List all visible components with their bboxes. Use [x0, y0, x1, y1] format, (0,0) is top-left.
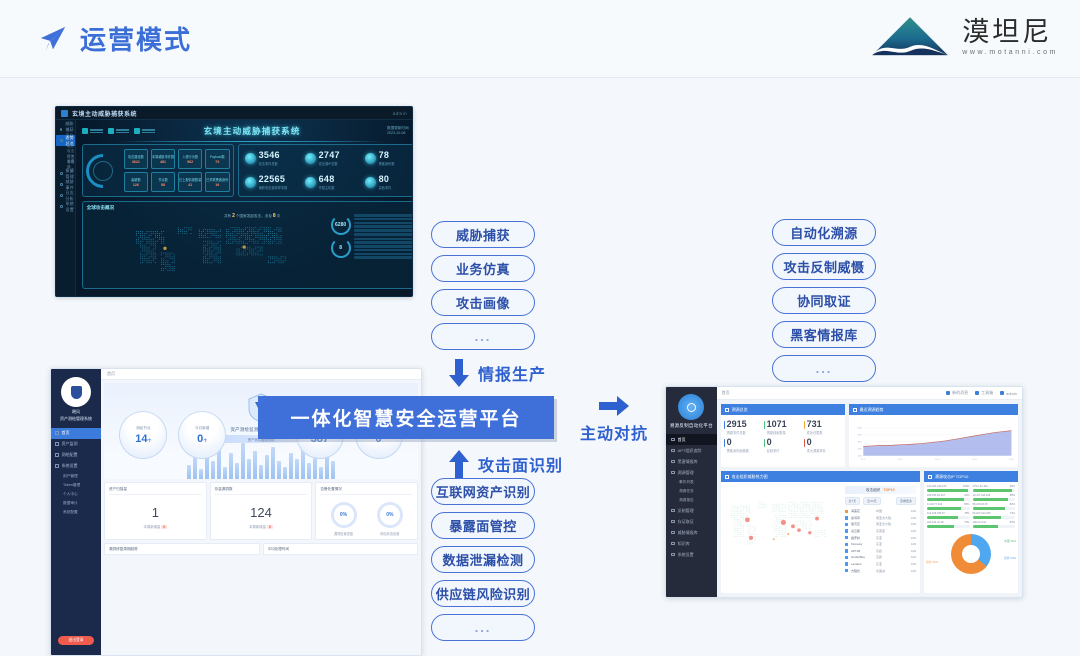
donut-label-a: 中国 36%: [1004, 539, 1016, 543]
flow-attack-surface: 攻击面识别: [449, 450, 563, 478]
right-menu-item-6[interactable]: 溯源报告: [666, 496, 717, 505]
topbar-action-0[interactable]: 新的消息: [946, 390, 968, 396]
ip-bar-track: [927, 507, 970, 510]
capability-pill-0[interactable]: 威胁捕获: [431, 221, 535, 248]
white-card-badge: 0: [267, 525, 273, 529]
white-card-badge: 0: [161, 525, 167, 529]
top10-value: 100: [906, 569, 916, 573]
stat-orb-icon: [305, 153, 316, 164]
trace-stat-value: 0: [727, 438, 762, 447]
building-bar: [223, 467, 227, 479]
stat-orb-icon: [365, 177, 376, 188]
capability-pill-3[interactable]: 黑客情报库: [772, 321, 876, 348]
dark-chip-value: 3621: [132, 160, 140, 164]
ip-address: 175.6.42.162: [973, 485, 988, 488]
ip-bar-track: [927, 489, 970, 492]
ip-progress-label: 222.104.41.4870%: [927, 521, 970, 524]
ip-bar-fill: [927, 516, 958, 519]
card-title: 溯源攻击IP TOP10: [935, 474, 968, 480]
flow-intel-production: 情报生产: [449, 359, 546, 387]
ip-progress-4: 14.29.77.24485%: [927, 503, 970, 510]
ip-bar-fill: [973, 507, 1005, 510]
svg-text:2000: 2000: [857, 448, 861, 450]
white-card-row: 资产扫描量1本周新增量 0存量漏洞数124本周新增量 0告警处置情况0%漏洞处置…: [104, 482, 418, 540]
right-menu-item-3[interactable]: 溯源管理: [666, 467, 717, 478]
ip-percent: 78%: [964, 512, 969, 515]
dark-main: 玄境主动威胁捕获系统 数据更新时间 2023-10-08 ⠿ 攻击路径数3621…: [76, 120, 413, 297]
dark-stat-value: 3546: [259, 151, 280, 160]
building-bar: [211, 461, 215, 479]
ip-progress-7: 60.207.194.20574%: [973, 512, 1016, 519]
right-menu-label: 存证取证: [678, 519, 694, 525]
top10-org-region: 东欧: [876, 555, 900, 559]
threat-hunting-dashboard-screenshot[interactable]: 玄境主动威胁捕获系统 admin 威胁捕获平台态势总览APT组织攻击行为画像攻击…: [55, 106, 413, 297]
top10-value: 100: [906, 529, 916, 533]
menu-icon: [671, 438, 675, 442]
capability-pill-2[interactable]: 协同取证: [772, 287, 876, 314]
svg-text:11-5: 11-5: [1009, 459, 1014, 461]
top10-org-name: 魔罗桫: [851, 536, 873, 540]
white-menu-label: 系统配置: [63, 510, 78, 515]
series-swatch: [845, 543, 848, 546]
top10-org-name: 海莲花: [851, 509, 873, 513]
top10-banner: 攻击组织 TOP10: [845, 486, 916, 494]
building-bar: [331, 461, 335, 479]
dark-stat-grid: 3546攻击事件总数2747攻击源IP总数78黑客身份数22565捕获攻击载荷样…: [242, 148, 413, 193]
white-menu-item-3[interactable]: 系统设置: [51, 461, 101, 472]
menu-bullet-icon: [60, 194, 63, 197]
stat-text: 3546攻击事件总数: [259, 151, 280, 166]
capability-pill-1[interactable]: 暴露面管控: [431, 512, 535, 539]
stat-orb-icon: [245, 153, 256, 164]
right-menu-item-5[interactable]: 溯源任务: [666, 487, 717, 496]
header-title-group: 运营模式: [38, 20, 192, 57]
right-sidebar[interactable]: 溯源反制自动化平台 首页APT组织追踪黑客情报库溯源管理事件列表溯源任务溯源报告…: [666, 387, 717, 597]
dark-menu-item-3[interactable]: 攻击者画像: [56, 157, 75, 168]
list-icon: [725, 408, 729, 412]
white-kpi-value: 14个: [135, 434, 151, 445]
capability-pill-3[interactable]: 供应链风险识别: [431, 580, 535, 607]
dark-chip-title: Payload数: [210, 154, 225, 159]
platform-bar[interactable]: 一体化智慧安全运营平台: [258, 396, 554, 439]
dark-stat-value: 648: [319, 175, 335, 184]
menu-icon: [55, 442, 59, 446]
arrow-right-icon: [599, 396, 629, 416]
dark-event-rows-1: [354, 238, 413, 260]
dark-gauge-block-1: 8: [331, 238, 413, 260]
ip-progress-9: 109.13.3.9166%: [973, 521, 1016, 528]
right-menu-item-7[interactable]: 反制管理: [666, 505, 717, 516]
white-metric-card-1: 存量漏洞数124本周新增量 0: [210, 482, 313, 540]
white-menu-item-4[interactable]: 用户管理: [51, 472, 101, 481]
top10-filter-chips[interactable]: 近7天近30天查看更多: [845, 497, 916, 505]
counter-capability-column: 自动化溯源攻击反制威慑协同取证黑客情报库...: [772, 219, 876, 382]
dark-chip-value: 19: [215, 183, 219, 187]
trace-stat-value: 1071: [767, 420, 802, 429]
ip-progress-label: 175.6.42.16295%: [973, 485, 1016, 488]
brand-logo: 漠坦尼 www.motanni.com: [868, 14, 1058, 60]
capability-pill-0[interactable]: 互联网资产识别: [431, 478, 535, 505]
white-kpi-0: 测绘节点14个: [119, 411, 167, 459]
card-header: 溯源攻击IP TOP10: [924, 471, 1018, 482]
menu-bullet-icon: [60, 183, 63, 186]
dark-event-row: [354, 253, 413, 256]
card-header: 溯源总览: [721, 404, 845, 415]
dark-menu-item-7[interactable]: 系统设置: [56, 201, 75, 212]
top10-row: 摩诃草南亚次大陆100: [845, 515, 916, 522]
dark-chip-grid: 攻击路径数3621本周威胁事件数481入侵行为数962Payload数73蜜罐数…: [124, 149, 230, 192]
trace-stat-1: 1071溯源线索数量: [764, 420, 802, 435]
menu-icon: [55, 431, 59, 435]
stat-orb-icon: [365, 153, 376, 164]
dark-stat-caption: 失陷主机数: [319, 185, 335, 190]
menu-icon: [55, 453, 59, 457]
trace-stat-value: 731: [807, 420, 842, 429]
white-kpi-label: 今日新增: [195, 426, 209, 431]
ip-bar-fill: [927, 498, 964, 501]
ip-percent: 74%: [1010, 512, 1015, 515]
building-bar: [187, 465, 191, 479]
white-menu-item-7[interactable]: 数据审计: [51, 499, 101, 508]
building-bar: [199, 469, 203, 479]
top10-org-region: 东亚: [876, 562, 900, 566]
series-swatch: [845, 556, 848, 559]
white-menu[interactable]: 首页资产监测测绘配置系统设置用户管理Token管理个人中心数据审计系统配置: [51, 428, 101, 517]
menu-bullet-icon: [60, 172, 63, 175]
trace-stat-caption: 黑客身份画像数: [727, 448, 762, 453]
ip-bar-track: [973, 507, 1016, 510]
white-donut-1: 0%网站状态处置: [377, 502, 403, 536]
white-disposal-card: 告警处置情况0%漏洞处置进度0%网站状态处置: [315, 482, 418, 540]
capability-pill-4[interactable]: ...: [772, 355, 876, 382]
topbar-action-1[interactable]: 工具箱: [975, 390, 993, 396]
dark-stat-5: 80高危事件: [362, 172, 413, 194]
ip-progress-grid: 103.204.199.215100%175.6.42.16295%180.23…: [924, 482, 1018, 531]
building-bar: [247, 459, 251, 479]
dark-chip-0: 攻击路径数3621: [124, 149, 149, 169]
right-menu-item-4[interactable]: 事件列表: [666, 478, 717, 487]
white-menu-item-8[interactable]: 系统配置: [51, 508, 101, 517]
dark-stat-0: 3546攻击事件总数: [242, 148, 299, 170]
radial-gauge: [79, 146, 127, 194]
building-bar: [295, 459, 299, 479]
white-bottom-card-1: 平均处理时间: [263, 543, 419, 555]
top10-org-region: 北美洲: [876, 569, 900, 573]
donut-graphic: [951, 534, 991, 574]
white-menu-label: 资产监测: [62, 441, 78, 447]
stat-text: 78黑客身份数: [379, 151, 395, 166]
dark-chip-3: Payload数73: [205, 149, 230, 169]
white-bottom-card-0: 漏洞修复周期趋势: [104, 543, 260, 555]
top10-row: Lazarus东亚100: [845, 561, 916, 568]
capability-pill-3[interactable]: ...: [431, 323, 535, 350]
right-body: 溯源反制自动化平台 首页APT组织追踪黑客情报库溯源管理事件列表溯源任务溯源报告…: [666, 387, 1022, 597]
white-kpi-1: 今日新增0个: [178, 411, 226, 459]
ip-progress-5: 58.218.92.3582%: [973, 503, 1016, 510]
white-sidebar[interactable]: 飓风 资产测绘管理系统 首页资产监测测绘配置系统设置用户管理Token管理个人中…: [51, 369, 101, 655]
menu-icon: [55, 464, 59, 468]
top10-value: 100: [906, 555, 916, 559]
dark-chip-value: 962: [187, 160, 193, 164]
white-menu-item-5[interactable]: Token管理: [51, 481, 101, 490]
trace-stat-4: 0反制事件: [764, 438, 802, 453]
topbar-action-label: 新的消息: [952, 390, 968, 396]
white-menu-label: 数据审计: [63, 501, 78, 506]
capability-pill-4[interactable]: ...: [431, 614, 535, 641]
right-menu[interactable]: 首页APT组织追踪黑客情报库溯源管理事件列表溯源任务溯源报告反制管理存证取证威胁…: [666, 434, 717, 560]
top10-value: 100: [906, 509, 916, 513]
white-menu-label: 首页: [62, 430, 70, 436]
surface-capability-column: 互联网资产识别暴露面管控数据泄漏检测供应链风险识别...: [431, 478, 535, 641]
ip-percent: 95%: [1010, 485, 1015, 488]
right-menu-item-10[interactable]: 知识库: [666, 538, 717, 549]
menu-icon: [671, 471, 675, 475]
dark-event-row: [354, 233, 413, 236]
dark-menu-item-5[interactable]: 威胁事件: [56, 179, 75, 190]
ip-progress-label: 113.105.185.6778%: [927, 512, 970, 515]
dark-stat-3: 22565捕获攻击载荷样本数: [242, 172, 299, 194]
white-card-caption: 本周新增量 0: [109, 524, 202, 529]
ip-address: 109.13.3.91: [973, 521, 987, 524]
dark-chip-title: 攻击路径数: [128, 154, 144, 159]
map-body: 攻击组织 TOP10 近7天近30天查看更多 海莲花中国100摩诃草南亚次大陆1…: [721, 482, 920, 568]
ip-progress-label: 109.13.3.9166%: [973, 521, 1016, 524]
flow-active-counter: 主动对抗: [580, 396, 648, 444]
white-donut-caption: 漏洞处置进度: [334, 531, 353, 536]
svg-text:11-3: 11-3: [935, 459, 940, 461]
building-bar: [277, 461, 281, 479]
top10-org-name: APT28: [851, 549, 873, 553]
right-menu-label: APT组织追踪: [678, 448, 702, 454]
brand-url: www.motanni.com: [962, 49, 1058, 56]
top10-chip-2[interactable]: 查看更多: [896, 497, 916, 505]
capability-pill-1[interactable]: 攻击反制威慑: [772, 253, 876, 280]
dark-menu-item-0[interactable]: 威胁捕获平台: [56, 124, 75, 135]
ip-progress-label: 14.29.77.24485%: [927, 503, 970, 506]
topbar-action-label: admin: [1006, 391, 1017, 396]
top10-org-region: 南亚次大陆: [876, 516, 900, 520]
right-menu-item-1[interactable]: APT组织追踪: [666, 445, 717, 456]
top10-value: 100: [906, 549, 916, 553]
top10-org-name: 毒云藤: [851, 529, 873, 533]
page-header: 运营模式 漠坦尼 www.motanni.com: [0, 0, 1080, 78]
series-swatch: [845, 569, 848, 572]
trace-stat-caption: 反制事件: [767, 448, 802, 453]
white-kpi-value: 0个: [197, 434, 207, 445]
right-main: 首页 新的消息工具箱admin 溯源总览 2915溯源事件总数1071溯源线索数…: [717, 387, 1022, 597]
top10-panel: 攻击组织 TOP10 近7天近30天查看更多 海莲花中国100摩诃草南亚次大陆1…: [841, 482, 920, 568]
white-donut-0: 0%漏洞处置进度: [331, 502, 357, 536]
building-bar: [193, 457, 197, 479]
ip-progress-2: 180.235.65.20791%: [927, 494, 970, 501]
topbar-icon: [975, 391, 979, 395]
stat-orb-icon: [245, 177, 256, 188]
flow-intel-label: 情报生产: [478, 361, 546, 385]
white-kpi-label: 测绘节点: [136, 426, 150, 431]
dark-event-row: [354, 218, 413, 221]
dark-chip-5: 节点数58: [151, 172, 176, 192]
svg-text:11-1: 11-1: [861, 459, 866, 461]
ip-bar-track: [927, 498, 970, 501]
ip-percent: 70%: [964, 521, 969, 524]
trace-ip-top10-card: 溯源攻击IP TOP10 103.204.199.215100%175.6.42…: [924, 471, 1018, 593]
trace-stat-0: 2915溯源事件总数: [724, 420, 762, 435]
ip-progress-label: 58.218.92.3582%: [973, 503, 1016, 506]
right-brand: 溯源反制自动化平台: [666, 423, 717, 429]
svg-text:4000: 4000: [857, 435, 861, 437]
dark-chip-2: 入侵行为数962: [178, 149, 203, 169]
right-breadcrumb: 首页: [722, 390, 730, 396]
stat-text: 2747攻击源IP总数: [319, 151, 340, 166]
dark-world-map: [101, 218, 327, 284]
top10-list: 海莲花中国100摩诃草南亚次大陆100蔓灵花南亚次大陆100毒云藤东南亚100魔…: [845, 508, 916, 574]
capability-pill-1[interactable]: 业务仿真: [431, 255, 535, 282]
capability-pill-2[interactable]: 攻击画像: [431, 289, 535, 316]
dark-titlebar-title: 玄境主动威胁捕获系统: [72, 109, 137, 118]
building-bar: [235, 463, 239, 479]
dark-event-rows-0: [354, 214, 413, 236]
top10-chip-0[interactable]: 近7天: [845, 497, 861, 505]
dark-chip-7: 已关联黑客身份19: [205, 172, 230, 192]
traceback-counter-dashboard-screenshot[interactable]: 溯源反制自动化平台 首页APT组织追踪黑客情报库溯源管理事件列表溯源任务溯源报告…: [665, 386, 1023, 598]
top10-value: 100: [906, 536, 916, 540]
dark-center-title: 玄境主动威胁捕获系统: [79, 125, 413, 137]
right-topbar-actions[interactable]: 新的消息工具箱admin: [946, 390, 1017, 396]
capability-pill-2[interactable]: 数据泄漏检测: [431, 546, 535, 573]
card-title: 溯源总览: [732, 407, 748, 413]
right-menu-label: 威胁情报库: [678, 530, 698, 536]
right-menu-item-8[interactable]: 存证取证: [666, 516, 717, 527]
white-brand: 飓风 资产测绘管理系统: [51, 409, 101, 423]
paper-plane-icon: [38, 24, 68, 54]
white-card-title: 资产扫描量: [109, 487, 202, 495]
dark-stat-value: 78: [379, 151, 395, 160]
ip-bar-track: [973, 516, 1016, 519]
dark-chip-6: 已上报情报数量41: [178, 172, 203, 192]
ip-percent: 88%: [1010, 494, 1015, 497]
dark-stat-caption: 捕获攻击载荷样本数: [259, 185, 288, 190]
top10-org-name: 摩诃草: [851, 516, 873, 520]
ip-progress-1: 175.6.42.16295%: [973, 485, 1016, 492]
topbar-action-2[interactable]: admin: [1000, 391, 1017, 396]
topbar-action-label: 工具箱: [981, 390, 993, 396]
trace-stat-value: 0: [767, 438, 802, 447]
dark-header-row: 玄境主动威胁捕获系统 数据更新时间 2023-10-08 ⠿: [79, 123, 413, 139]
ip-address: 103.204.199.215: [927, 485, 946, 488]
topbar-icon: [1000, 391, 1004, 395]
ip-address: 60.207.194.205: [973, 512, 991, 515]
menu-bullet-icon: [60, 139, 63, 142]
dark-chip-title: 已上报情报数量: [179, 177, 201, 182]
donut-label-c: 境外 64%: [926, 560, 938, 564]
dark-stat-value: 2747: [319, 151, 340, 160]
white-menu-item-1[interactable]: 资产监测: [51, 439, 101, 450]
top10-org-region: 南亚次大陆: [876, 522, 900, 526]
ip-bar-fill: [927, 507, 961, 510]
series-swatch: [845, 523, 848, 526]
ip-progress-label: 211.87.118.21888%: [973, 494, 1016, 497]
donut-label-b: 境外 64%: [1004, 556, 1016, 560]
top10-chip-1[interactable]: 近30天: [863, 497, 880, 505]
white-menu-label: 测绘配置: [62, 452, 78, 458]
right-menu-label: 溯源管理: [678, 470, 694, 476]
right-menu-item-11[interactable]: 系统设置: [666, 549, 717, 560]
ip-bar-fill: [973, 525, 999, 528]
trace-stat-caption: 重大溯源事件: [807, 448, 842, 453]
top10-banner-text: 攻击组织: [866, 488, 880, 493]
dark-menu-item-6[interactable]: 日志分析: [56, 190, 75, 201]
white-menu-label: Token管理: [63, 483, 80, 488]
series-swatch: [845, 516, 848, 519]
menu-icon: [671, 509, 675, 513]
dark-user-label[interactable]: admin: [393, 111, 407, 116]
building-bar: [307, 463, 311, 479]
white-menu-item-6[interactable]: 个人中心: [51, 490, 101, 499]
right-menu-label: 溯源任务: [679, 489, 694, 494]
trace-trend-card: 最近溯源趋势 11-111-211-311-411-55000400030002…: [849, 404, 1018, 467]
right-menu-label: 黑客情报库: [678, 459, 698, 465]
logout-button[interactable]: 退出登录: [58, 636, 94, 645]
top10-org-region: 东亚: [876, 542, 900, 546]
dark-body: 威胁捕获平台态势总览APT组织攻击行为画像攻击者画像蜜罐管理威胁事件日志分析系统…: [56, 120, 412, 297]
white-donut-caption: 网站状态处置: [380, 531, 399, 536]
menu-icon: [671, 460, 675, 464]
top10-row: GothicBee东欧100: [845, 554, 916, 561]
right-menu-item-9[interactable]: 威胁情报库: [666, 527, 717, 538]
ip-address: 180.235.65.207: [927, 494, 945, 497]
right-menu-item-0[interactable]: 首页: [666, 434, 717, 445]
ip-bar-track: [973, 489, 1016, 492]
top10-org-name: GothicBee: [851, 555, 873, 559]
dark-stat-caption: 高危事件: [379, 185, 392, 190]
top10-row: Kimsuky东亚100: [845, 541, 916, 548]
ip-bar-fill: [927, 525, 954, 528]
ip-progress-6: 113.105.185.6778%: [927, 512, 970, 519]
white-card-caption: 本周新增量 0: [215, 524, 308, 529]
menu-bullet-icon: [60, 205, 63, 208]
dark-event-row: [354, 229, 413, 232]
dark-event-row: [354, 245, 413, 248]
dark-menu-item-4[interactable]: 蜜罐管理: [56, 168, 75, 179]
ip-percent: 91%: [964, 494, 969, 497]
dark-stat-caption: 攻击源IP总数: [319, 161, 340, 166]
dark-event-row: [354, 241, 413, 244]
right-menu-label: 知识库: [678, 541, 690, 547]
building-bar: [283, 467, 287, 479]
ip-bar-track: [973, 525, 1016, 528]
ip-bar-fill: [927, 489, 968, 492]
dark-stat-1: 2747攻击源IP总数: [302, 148, 359, 170]
top10-org-name: 方程式: [851, 569, 873, 573]
slide-canvas: 玄境主动威胁捕获系统 admin 威胁捕获平台态势总览APT组织攻击行为画像攻击…: [0, 78, 1080, 608]
dark-event-row: [354, 238, 413, 241]
globe-icon: [725, 475, 729, 479]
svg-text:11-4: 11-4: [972, 459, 977, 461]
capability-pill-0[interactable]: 自动化溯源: [772, 219, 876, 246]
top10-value: 100: [906, 562, 916, 566]
dark-sidebar[interactable]: 威胁捕获平台态势总览APT组织攻击行为画像攻击者画像蜜罐管理威胁事件日志分析系统…: [56, 120, 76, 297]
stat-text: 22565捕获攻击载荷样本数: [259, 175, 288, 190]
ip-progress-3: 211.87.118.21888%: [973, 494, 1016, 501]
ip-bar-fill: [973, 489, 1012, 492]
ip-percent: 100%: [963, 485, 970, 488]
dark-stat-caption: 黑客身份数: [379, 161, 395, 166]
right-menu-label: 首页: [678, 437, 686, 443]
card-header: 攻击组织威胁热力图: [721, 471, 920, 482]
white-menu-item-2[interactable]: 测绘配置: [51, 450, 101, 461]
right-menu-item-2[interactable]: 黑客情报库: [666, 456, 717, 467]
white-menu-item-0[interactable]: 首页: [51, 428, 101, 439]
